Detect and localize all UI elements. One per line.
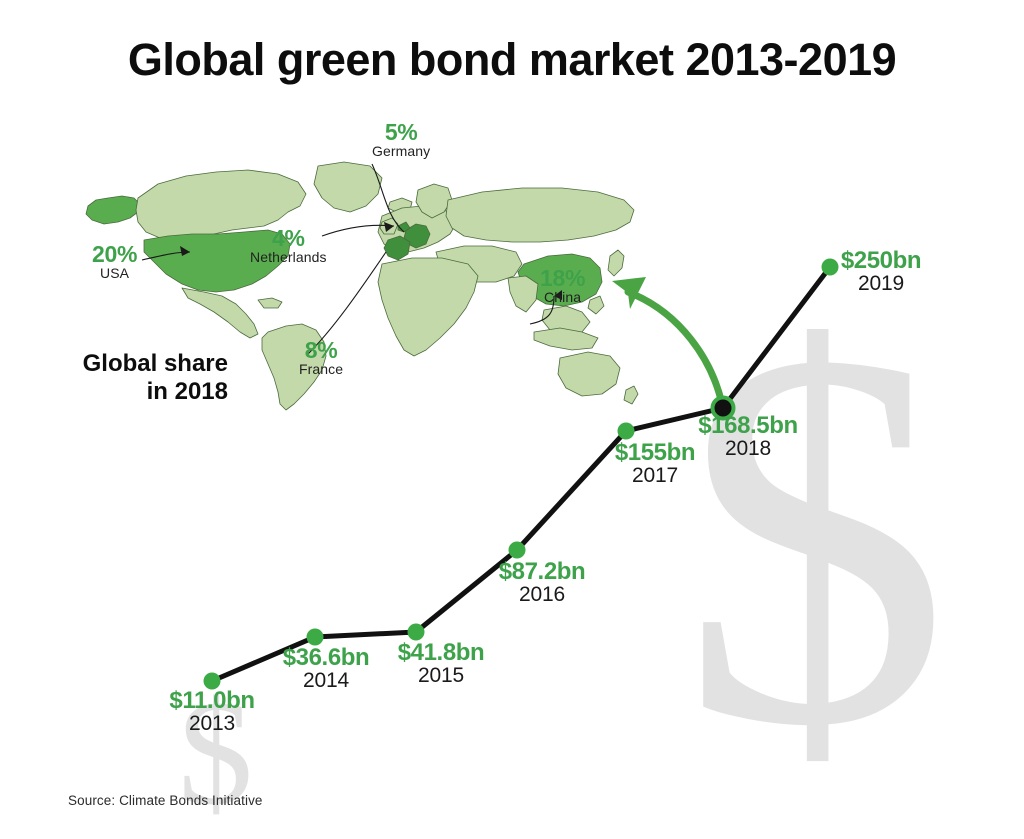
map-label-usa: 20% USA xyxy=(92,242,137,281)
chart-year-2017: 2017 xyxy=(615,465,695,487)
chart-point-2014 xyxy=(307,629,324,646)
map-label-germany-country: Germany xyxy=(372,144,430,159)
chart-label-2013: $11.0bn 2013 xyxy=(169,688,254,736)
map-label-france: 8% France xyxy=(299,338,343,377)
map-country-mexico xyxy=(182,288,258,338)
map-label-china: 18% China xyxy=(540,266,585,305)
chart-point-2016 xyxy=(509,542,526,559)
map-continent-australia xyxy=(558,352,620,396)
map-label-germany-pct: 5% xyxy=(372,120,430,144)
map-label-france-pct: 8% xyxy=(299,338,343,362)
map-country-new-zealand xyxy=(624,386,638,404)
chart-value-2014: $36.6bn xyxy=(283,645,370,670)
chart-value-2013: $11.0bn xyxy=(169,688,254,713)
chart-year-2014: 2014 xyxy=(283,670,370,692)
chart-year-2013: 2013 xyxy=(169,713,254,735)
map-country-russia xyxy=(446,188,634,242)
page-title: Global green bond market 2013-2019 xyxy=(0,34,1024,86)
chart-label-2014: $36.6bn 2014 xyxy=(283,645,370,693)
map-country-greenland xyxy=(314,162,382,212)
global-share-line2: in 2018 xyxy=(66,378,228,406)
map-continent-africa xyxy=(378,258,478,356)
map-label-netherlands-pct: 4% xyxy=(250,226,327,250)
map-country-philippines xyxy=(588,296,604,314)
chart-label-2018: $168.5bn 2018 xyxy=(698,413,798,461)
source-note: Source: Climate Bonds Initiative xyxy=(68,793,263,808)
map-label-china-country: China xyxy=(540,290,585,305)
map-label-france-country: France xyxy=(299,362,343,377)
map-country-alaska xyxy=(86,196,140,224)
map-label-china-pct: 18% xyxy=(540,266,585,290)
chart-year-2019: 2019 xyxy=(841,273,921,295)
infographic-canvas: $ $ Global green bond market 2013-2019 xyxy=(0,0,1024,839)
map-label-netherlands-country: Netherlands xyxy=(250,250,327,265)
map-country-india xyxy=(508,276,538,312)
chart-year-2016: 2016 xyxy=(499,584,586,606)
chart-value-2019: $250bn xyxy=(841,248,921,273)
chart-label-2017: $155bn 2017 xyxy=(615,440,695,488)
chart-value-2016: $87.2bn xyxy=(499,559,586,584)
map-label-usa-pct: 20% xyxy=(92,242,137,266)
chart-label-2015: $41.8bn 2015 xyxy=(398,640,485,688)
map-country-japan xyxy=(608,250,624,276)
chart-value-2018: $168.5bn xyxy=(698,413,798,438)
chart-year-2015: 2015 xyxy=(398,665,485,687)
chart-point-2017 xyxy=(618,423,635,440)
chart-value-2017: $155bn xyxy=(615,440,695,465)
map-region-indonesia xyxy=(534,328,598,350)
chart-year-2018: 2018 xyxy=(698,438,798,460)
global-share-caption: Global share in 2018 xyxy=(66,350,228,407)
map-caribbean xyxy=(258,298,282,308)
map-label-netherlands: 4% Netherlands xyxy=(250,226,327,265)
chart-label-2019: $250bn 2019 xyxy=(841,248,921,296)
map-label-usa-country: USA xyxy=(92,266,137,281)
map-label-germany: 5% Germany xyxy=(372,120,430,159)
dollar-watermark-large: $ xyxy=(680,268,950,808)
chart-label-2016: $87.2bn 2016 xyxy=(499,559,586,607)
chart-value-2015: $41.8bn xyxy=(398,640,485,665)
global-share-line1: Global share xyxy=(66,350,228,378)
chart-point-2015 xyxy=(408,624,425,641)
